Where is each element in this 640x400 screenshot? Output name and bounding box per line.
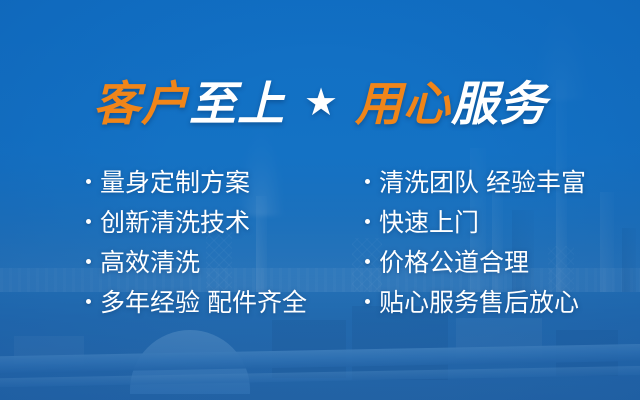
list-item: 快速上门 — [365, 203, 640, 243]
bullet-dot-icon — [365, 179, 370, 184]
feature-column-left: 量身定制方案 创新清洗技术 高效清洗 多年经验 配件齐全 — [86, 163, 361, 323]
list-item-label: 快速上门 — [379, 203, 479, 243]
bullet-dot-icon — [365, 259, 370, 264]
feature-column-right: 清洗团队 经验丰富 快速上门 价格公道合理 贴心服务售后放心 — [365, 163, 640, 323]
bullet-dot-icon — [86, 219, 91, 224]
headline-segment-1: 客户 — [93, 80, 189, 127]
headline-segment-4: 服务 — [451, 80, 547, 127]
bullet-dot-icon — [365, 219, 370, 224]
promo-banner: 客户 至上 ★ 用心 服务 量身定制方案 创新清洗技术 高效清洗 — [0, 0, 640, 400]
list-item: 创新清洗技术 — [86, 203, 361, 243]
list-item-label: 清洗团队 经验丰富 — [379, 163, 586, 203]
bullet-dot-icon — [365, 299, 370, 304]
list-item: 多年经验 配件齐全 — [86, 283, 361, 323]
list-item-label: 多年经验 配件齐全 — [100, 283, 307, 323]
list-item: 价格公道合理 — [365, 243, 640, 283]
headline: 客户 至上 ★ 用心 服务 — [0, 70, 640, 136]
list-item-label: 价格公道合理 — [379, 243, 529, 283]
list-item: 量身定制方案 — [86, 163, 361, 203]
list-item: 清洗团队 经验丰富 — [365, 163, 640, 203]
headline-segment-2: 至上 — [189, 80, 285, 127]
headline-segment-3: 用心 — [355, 80, 451, 127]
banner-content: 客户 至上 ★ 用心 服务 量身定制方案 创新清洗技术 高效清洗 — [0, 0, 640, 400]
list-item: 贴心服务售后放心 — [365, 283, 640, 323]
star-icon: ★ — [301, 84, 341, 122]
bullet-dot-icon — [86, 259, 91, 264]
bullet-dot-icon — [86, 299, 91, 304]
list-item-label: 创新清洗技术 — [100, 203, 250, 243]
list-item-label: 高效清洗 — [100, 243, 200, 283]
list-item-label: 贴心服务售后放心 — [379, 283, 579, 323]
bullet-dot-icon — [86, 179, 91, 184]
list-item: 高效清洗 — [86, 243, 361, 283]
list-item-label: 量身定制方案 — [100, 163, 250, 203]
feature-columns: 量身定制方案 创新清洗技术 高效清洗 多年经验 配件齐全 — [0, 163, 640, 323]
